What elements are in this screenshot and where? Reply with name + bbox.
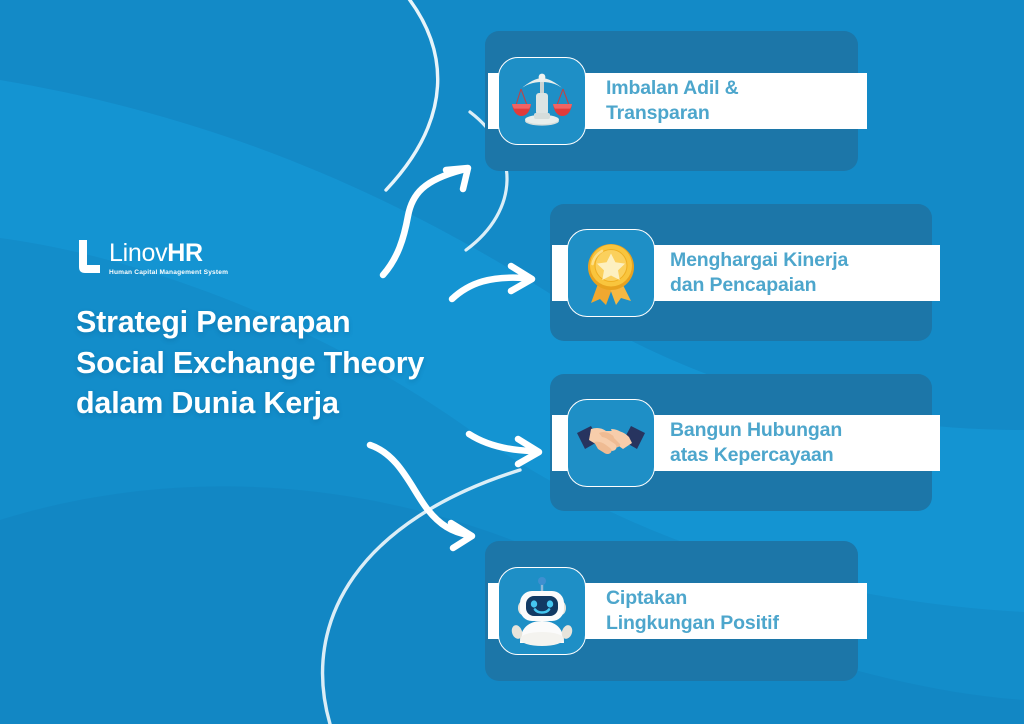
- strategy-card-ciptakan-lingkungan-positif[interactable]: Ciptakan Lingkungan Positif: [485, 541, 858, 681]
- brand-tagline: Human Capital Management System: [109, 269, 228, 276]
- card-label: Imbalan Adil & Transparan: [606, 76, 739, 126]
- card-label: Bangun Hubungan atas Kepercayaan: [670, 418, 842, 468]
- brand-name: LinovHR: [109, 241, 228, 266]
- robot-icon: [506, 575, 578, 647]
- arrow-to-card-3: [469, 434, 539, 464]
- card-icon-tile: [567, 229, 655, 317]
- arrow-to-card-4: [370, 445, 472, 548]
- card-label-line-2: Lingkungan Positif: [606, 611, 779, 636]
- brand-name-light: Linov: [109, 239, 167, 267]
- page-title-line-2: Social Exchange Theory: [76, 343, 496, 384]
- strategy-card-bangun-hubungan[interactable]: Bangun Hubungan atas Kepercayaan: [550, 374, 932, 511]
- linovhr-l-mark-icon: [76, 238, 102, 276]
- title-block: LinovHR Human Capital Management System …: [76, 232, 496, 424]
- card-label-line-1: Imbalan Adil &: [606, 76, 739, 101]
- page-title: Strategi Penerapan Social Exchange Theor…: [76, 302, 496, 424]
- strategy-card-imbalan-adil-transparan[interactable]: Imbalan Adil & Transparan: [485, 31, 858, 171]
- handshake-icon: [575, 407, 647, 479]
- card-icon-tile: [498, 57, 586, 145]
- brand-name-bold: HR: [167, 239, 203, 267]
- card-label: Ciptakan Lingkungan Positif: [606, 586, 779, 636]
- strategy-card-menghargai-kinerja[interactable]: Menghargai Kinerja dan Pencapaian: [550, 204, 932, 341]
- card-label: Menghargai Kinerja dan Pencapaian: [670, 248, 848, 298]
- card-icon-tile: [567, 399, 655, 487]
- card-label-line-2: Transparan: [606, 101, 739, 126]
- infographic-canvas: LinovHR Human Capital Management System …: [0, 0, 1024, 724]
- brand-logo: LinovHR Human Capital Management System: [76, 232, 496, 276]
- award-medal-icon: [575, 237, 647, 309]
- card-label-line-1: Ciptakan: [606, 586, 779, 611]
- page-title-line-1: Strategi Penerapan: [76, 302, 496, 343]
- card-icon-tile: [498, 567, 586, 655]
- card-label-line-1: Menghargai Kinerja: [670, 248, 848, 273]
- page-title-line-3: dalam Dunia Kerja: [76, 383, 496, 424]
- card-label-line-2: atas Kepercayaan: [670, 443, 842, 468]
- balance-scale-icon: [506, 65, 578, 137]
- card-label-line-1: Bangun Hubungan: [670, 418, 842, 443]
- card-label-line-2: dan Pencapaian: [670, 273, 848, 298]
